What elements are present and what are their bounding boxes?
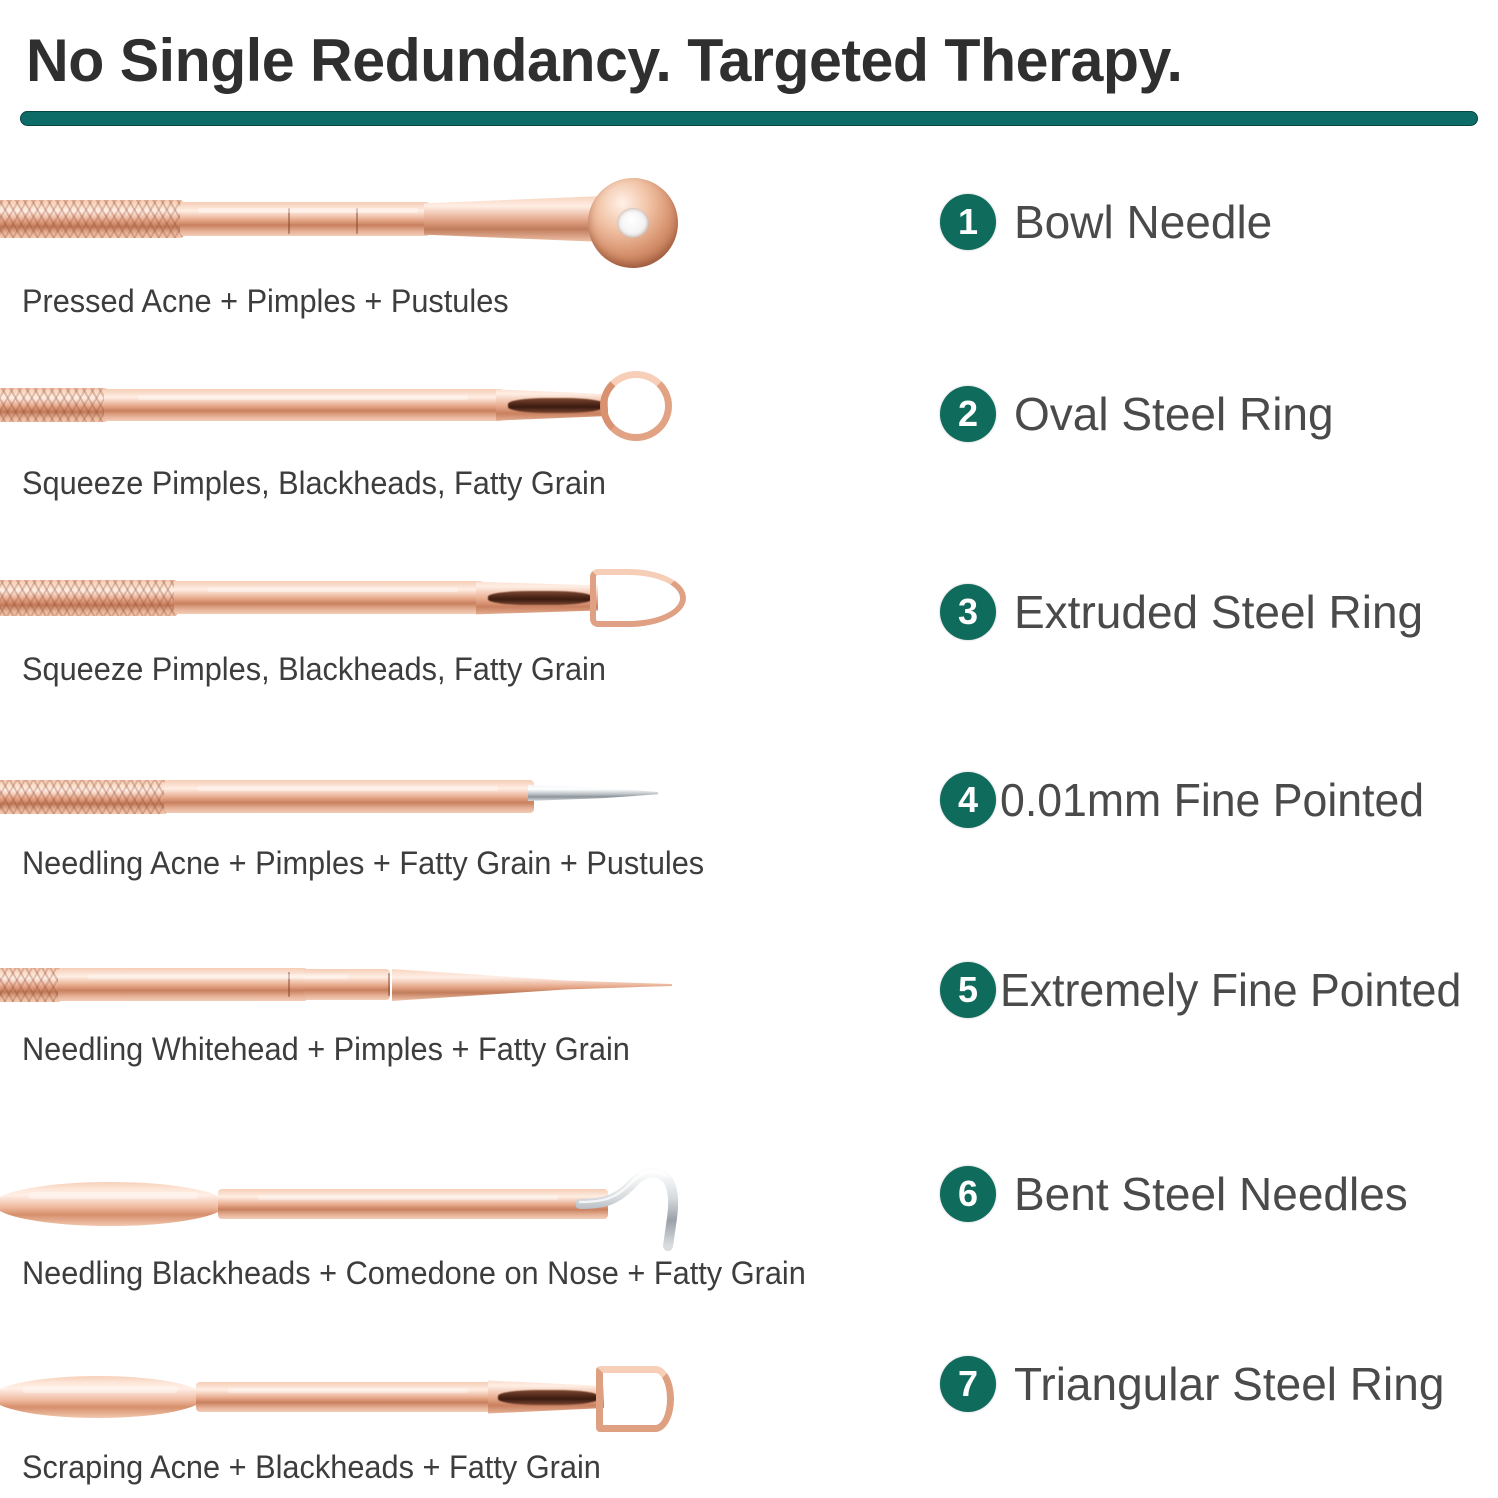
tool-image-1 xyxy=(0,170,748,266)
legend-badge-3: 3 xyxy=(940,584,996,640)
tool-2-shaft xyxy=(104,389,504,421)
legend-item-3[interactable]: 3 Extruded Steel Ring xyxy=(940,584,1423,640)
tool-6-shaft xyxy=(218,1189,608,1219)
tool-3-joint-seam xyxy=(488,591,592,605)
legend-label-1: Bowl Needle xyxy=(1014,196,1272,248)
tool-2-joint-seam xyxy=(508,398,604,413)
legend-label-2: Oval Steel Ring xyxy=(1014,388,1334,440)
legend-label-5: Extremely Fine Pointed xyxy=(1000,964,1461,1016)
tool-3-knurled-handle xyxy=(0,580,178,616)
legend-label-3: Extruded Steel Ring xyxy=(1014,586,1423,638)
legend-label-7: Triangular Steel Ring xyxy=(1014,1358,1444,1410)
legend-badge-7: 7 xyxy=(940,1356,996,1412)
legend-badge-5: 5 xyxy=(940,962,996,1018)
tool-2-specular-highlight xyxy=(138,395,468,400)
tool-5-shaft xyxy=(58,968,308,1001)
tool-7-specular-highlight xyxy=(228,1388,468,1393)
tool-image-7 xyxy=(0,1340,748,1450)
legend-badge-1: 1 xyxy=(940,194,996,250)
bent-hook-tip-icon xyxy=(576,1146,716,1256)
legend-label-4: 0.01mm Fine Pointed xyxy=(1000,774,1424,826)
tool-image-5 xyxy=(0,940,748,1036)
triangular-ring-tip-icon xyxy=(596,1366,674,1432)
tool-6-specular-highlight xyxy=(258,1195,558,1200)
tool-1-specular-highlight xyxy=(198,208,418,213)
tool-5-specular-highlight xyxy=(88,974,348,979)
tool-5-segment-mark-2 xyxy=(388,973,390,996)
fine-needle-tip-icon xyxy=(528,785,658,801)
tool-7-joint-seam xyxy=(498,1390,598,1405)
teardrop-ring-tip-icon xyxy=(590,569,686,627)
legend-badge-2: 2 xyxy=(940,386,996,442)
tool-4-knurled-handle xyxy=(0,780,168,814)
tool-image-2 xyxy=(0,358,748,454)
tool-3-shaft xyxy=(174,581,484,614)
tool-1-neck xyxy=(424,196,604,242)
tool-6-spatula-blade xyxy=(0,1182,226,1226)
tool-7-spatula-blade xyxy=(0,1376,204,1418)
page-title: No Single Redundancy. Targeted Therapy. xyxy=(26,26,1454,96)
legend-badge-4: 4 xyxy=(940,772,996,828)
tool-image-4 xyxy=(0,752,748,848)
legend-item-5[interactable]: 5 Extremely Fine Pointed xyxy=(940,962,1476,1018)
legend-item-6[interactable]: 6 Bent Steel Needles xyxy=(940,1166,1408,1222)
tool-3-specular-highlight xyxy=(208,587,458,592)
tool-image-6 xyxy=(0,1138,748,1258)
title-underline-bar xyxy=(20,111,1478,126)
legend-label-6: Bent Steel Needles xyxy=(1014,1168,1408,1220)
legend-item-1[interactable]: 1 Bowl Needle xyxy=(940,194,1272,250)
tool-caption-6: Needling Blackheads + Comedone on Nose +… xyxy=(22,1254,806,1292)
legend-item-7[interactable]: 7 Triangular Steel Ring xyxy=(940,1356,1444,1412)
legend-badge-6: 6 xyxy=(940,1166,996,1222)
tool-caption-7: Scraping Acne + Blackheads + Fatty Grain xyxy=(22,1448,601,1486)
tool-4-specular-highlight xyxy=(198,786,498,791)
tool-caption-2: Squeeze Pimples, Blackheads, Fatty Grain xyxy=(22,464,606,502)
extra-fine-point-tip-icon xyxy=(392,969,672,1001)
tool-caption-3: Squeeze Pimples, Blackheads, Fatty Grain xyxy=(22,650,606,688)
legend-item-2[interactable]: 2 Oval Steel Ring xyxy=(940,386,1334,442)
infographic-page: No Single Redundancy. Targeted Therapy. … xyxy=(0,0,1498,1498)
tool-7-shaft xyxy=(196,1382,496,1412)
tool-4-shaft xyxy=(164,780,534,813)
legend-item-4[interactable]: 4 0.01mm Fine Pointed xyxy=(940,772,1437,828)
tool-1-knurled-handle xyxy=(0,200,184,238)
tool-7-blade-highlight xyxy=(22,1386,178,1393)
oval-ring-tip-icon xyxy=(600,371,672,441)
tool-2-knurled-handle xyxy=(0,388,108,422)
tool-1-bowl-hole xyxy=(617,208,649,238)
tool-6-blade-highlight xyxy=(28,1192,198,1199)
tool-caption-1: Pressed Acne + Pimples + Pustules xyxy=(22,282,509,320)
tool-caption-5: Needling Whitehead + Pimples + Fatty Gra… xyxy=(22,1030,630,1068)
tool-caption-4: Needling Acne + Pimples + Fatty Grain + … xyxy=(22,844,704,882)
tool-5-knurled-handle xyxy=(0,968,62,1002)
tool-image-3 xyxy=(0,550,748,646)
